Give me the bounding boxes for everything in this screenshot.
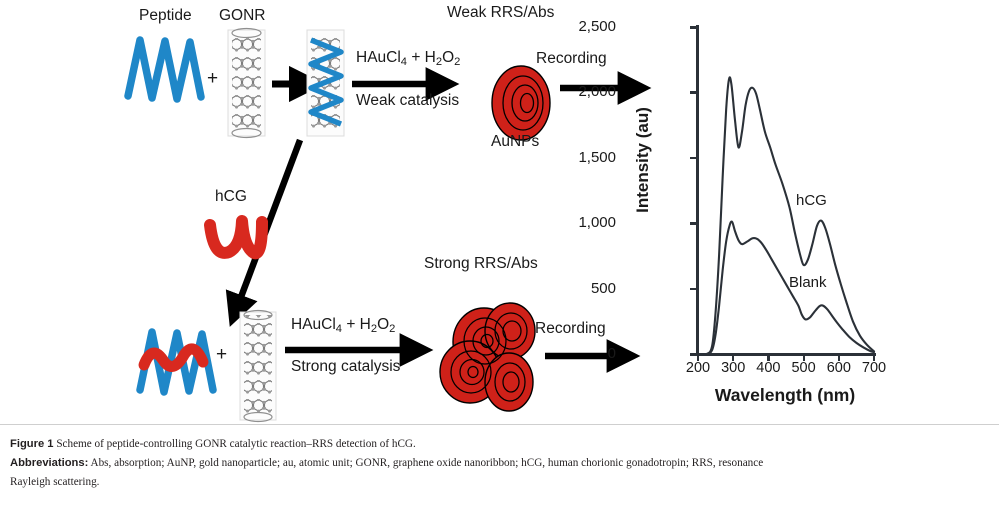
gonr-label: GONR <box>219 7 266 25</box>
reaction-reagents-bottom: HAuCl4 + H2O2 <box>291 316 395 335</box>
x-axis-title: Wavelength (nm) <box>660 385 910 406</box>
y-tick <box>690 288 696 291</box>
figure-caption: Figure 1 Scheme of peptide-controlling G… <box>0 424 999 507</box>
recording-label-bottom: Recording <box>535 320 606 338</box>
plus-sign-top: + <box>207 68 218 90</box>
y-tick-label: 500 <box>591 280 616 297</box>
y-tick-label: 1,500 <box>578 149 616 166</box>
aunp-single-particle-icon <box>492 66 550 140</box>
hcg-molecule-icon <box>210 221 262 253</box>
plus-sign-bottom: + <box>216 344 227 366</box>
y-tick <box>690 157 696 160</box>
x-axis <box>696 353 876 356</box>
peptide-icon <box>128 40 201 99</box>
spectrum-curve-hcg <box>698 77 874 354</box>
caption-title-text: Scheme of peptide-controlling GONR catal… <box>54 438 416 450</box>
gonr-nanoribbon-icon <box>228 29 265 138</box>
caption-abbrev-text: Abs, absorption; AuNP, gold nanoparticle… <box>88 457 763 469</box>
caption-line-abbreviations-cont: Rayleigh scattering. <box>10 475 99 490</box>
y-axis-title: Intensity (au) <box>633 45 653 275</box>
curve-label-blank: Blank <box>789 274 827 291</box>
recording-label-top: Recording <box>536 50 607 68</box>
rrs-spectrum-chart: 05001,0001,5002,0002,500 200300400500600… <box>620 0 999 424</box>
x-tick-label: 500 <box>791 360 815 376</box>
y-tick-label: 2,500 <box>578 18 616 35</box>
caption-line-title: Figure 1 Scheme of peptide-controlling G… <box>10 437 416 452</box>
figure-illustration: Peptide GONR + HAuCl4 + H2O2 Weak cataly… <box>0 0 999 424</box>
gonr-peptide-complex-icon <box>307 30 344 136</box>
y-tick <box>690 222 696 225</box>
caption-line-abbreviations: Abbreviations: Abs, absorption; AuNP, go… <box>10 456 991 471</box>
gonr-nanoribbon-free-icon <box>240 311 276 422</box>
peptide-label: Peptide <box>139 7 192 25</box>
y-tick <box>690 26 696 29</box>
curve-label-hcg: hCG <box>796 192 827 209</box>
x-tick-label: 400 <box>756 360 780 376</box>
hcg-label: hCG <box>215 188 247 206</box>
y-tick <box>690 91 696 94</box>
x-tick-label: 200 <box>686 360 710 376</box>
weak-catalysis-label: Weak catalysis <box>356 92 459 110</box>
aunp-aggregate-icon <box>440 303 535 411</box>
y-tick <box>690 353 696 356</box>
strong-rrs-abs-label: Strong RRS/Abs <box>424 255 538 273</box>
spectrum-curve-blank <box>698 222 874 355</box>
x-tick-label: 600 <box>827 360 851 376</box>
weak-rrs-abs-label: Weak RRS/Abs <box>447 4 554 22</box>
y-tick-label: 1,000 <box>578 214 616 231</box>
reaction-reagents-top: HAuCl4 + H2O2 <box>356 49 460 68</box>
y-tick-label: 2,000 <box>578 83 616 100</box>
y-tick-label: 0 <box>608 345 616 362</box>
x-tick-label: 300 <box>721 360 745 376</box>
caption-abbrev-heading: Abbreviations: <box>10 457 88 469</box>
aunps-label: AuNPs <box>491 133 539 151</box>
caption-figure-number: Figure 1 <box>10 438 54 450</box>
peptide-hcg-complex-icon <box>140 332 213 392</box>
x-tick-label: 700 <box>862 360 886 376</box>
y-axis <box>696 25 699 356</box>
strong-catalysis-label: Strong catalysis <box>291 358 400 376</box>
